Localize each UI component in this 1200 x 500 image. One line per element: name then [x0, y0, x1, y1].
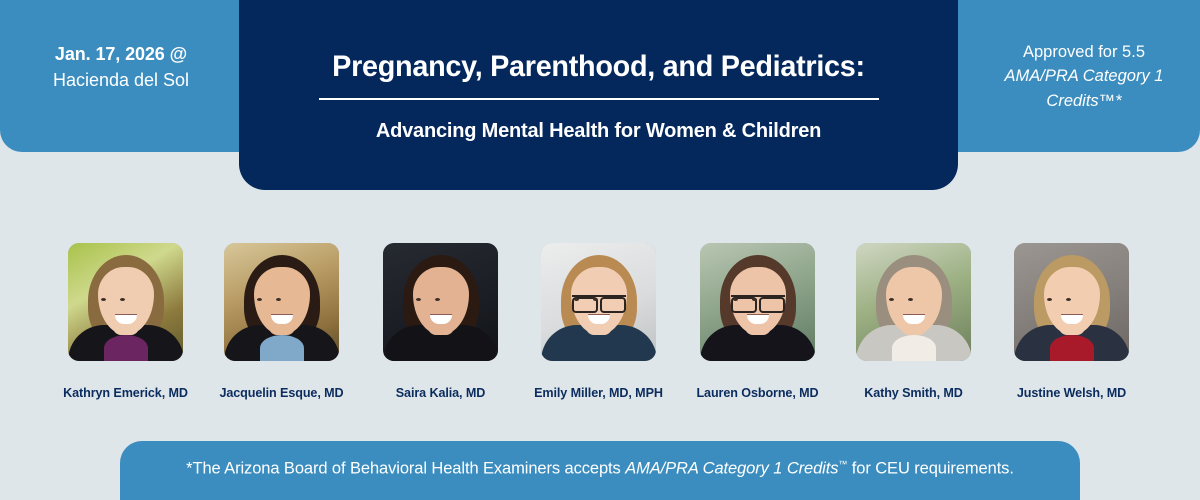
title-divider [319, 98, 879, 100]
title-card: Pregnancy, Parenthood, and Pediatrics: A… [239, 0, 958, 190]
speaker-name: Justine Welsh, MD [994, 386, 1149, 400]
footer-text-after: for CEU requirements. [847, 460, 1014, 478]
speaker-list: Kathryn Emerick, MDJacquelin Esque, MDSa… [0, 240, 1200, 405]
speaker-portrait [383, 243, 498, 361]
event-date-venue: Jan. 17, 2026 @ Hacienda del Sol [10, 42, 232, 93]
speaker-portrait [1014, 243, 1129, 361]
speaker-portrait [700, 243, 815, 361]
speaker-card: Jacquelin Esque, MD [204, 240, 359, 400]
event-title: Pregnancy, Parenthood, and Pediatrics: [253, 50, 943, 84]
speaker-name: Kathy Smith, MD [836, 386, 991, 400]
speaker-card: Lauren Osborne, MD [680, 240, 835, 400]
event-date: Jan. 17, 2026 @ [10, 42, 232, 68]
speaker-name: Jacquelin Esque, MD [204, 386, 359, 400]
speaker-portrait [856, 243, 971, 361]
speaker-card: Saira Kalia, MD [363, 240, 518, 400]
speaker-name: Kathryn Emerick, MD [48, 386, 203, 400]
speaker-portrait [541, 243, 656, 361]
event-banner: Jan. 17, 2026 @ Hacienda del Sol Approve… [0, 0, 1200, 500]
cme-credits-line2: AMA/PRA Category 1 [980, 64, 1188, 88]
speaker-portrait [68, 243, 183, 361]
speaker-name: Saira Kalia, MD [363, 386, 518, 400]
cme-credits-line1: Approved for 5.5 [980, 40, 1188, 64]
footer-text-italic: AMA/PRA Category 1 Credits [625, 460, 838, 478]
event-venue: Hacienda del Sol [10, 68, 232, 94]
footer-note-box: *The Arizona Board of Behavioral Health … [120, 441, 1080, 500]
speaker-card: Kathy Smith, MD [836, 240, 991, 400]
speaker-name: Emily Miller, MD, MPH [521, 386, 676, 400]
event-subtitle: Advancing Mental Health for Women & Chil… [239, 120, 958, 143]
footer-text-before: *The Arizona Board of Behavioral Health … [186, 460, 625, 478]
footer-note-text: *The Arizona Board of Behavioral Health … [120, 459, 1080, 479]
speaker-card: Kathryn Emerick, MD [48, 240, 203, 400]
trademark-symbol: ™ [838, 459, 847, 469]
speaker-portrait [224, 243, 339, 361]
cme-credits: Approved for 5.5 AMA/PRA Category 1 Cred… [980, 40, 1188, 113]
cme-credits-line3: Credits™* [980, 89, 1188, 113]
speaker-name: Lauren Osborne, MD [680, 386, 835, 400]
speaker-card: Emily Miller, MD, MPH [521, 240, 676, 400]
speaker-card: Justine Welsh, MD [994, 240, 1149, 400]
